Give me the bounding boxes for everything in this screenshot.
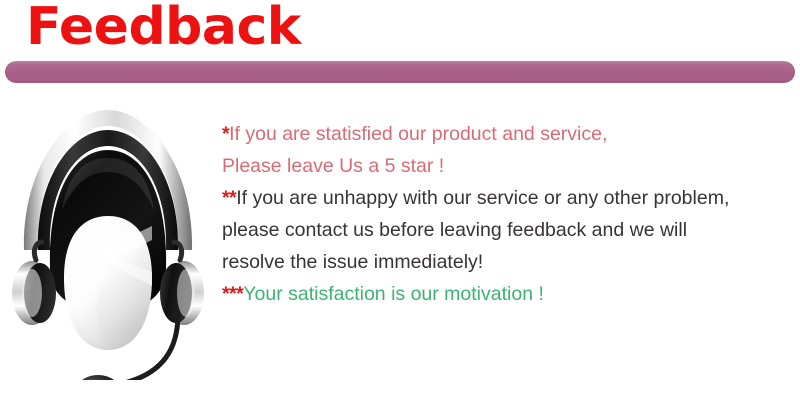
left-ear-cup — [12, 242, 56, 325]
message-line: ***Your satisfaction is our motivation ! — [222, 278, 788, 310]
line-text: Please leave Us a 5 star ! — [222, 155, 444, 177]
message-line: Please leave Us a 5 star ! — [222, 150, 788, 182]
line-text: Your satisfaction is our motivation ! — [243, 283, 544, 305]
customer-service-headset-icon — [2, 100, 214, 380]
page-title: Feedback — [26, 0, 301, 56]
microphone-mouthpiece — [78, 375, 118, 380]
line-marker: *** — [222, 283, 243, 305]
feedback-message-block: *If you are statisfied our product and s… — [222, 118, 788, 310]
message-line: please contact us before leaving feedbac… — [222, 214, 788, 246]
feedback-banner: Feedback — [0, 0, 800, 400]
divider-bar — [5, 61, 795, 83]
line-text: resolve the issue immediately! — [222, 251, 483, 273]
message-line: **If you are unhappy with our service or… — [222, 182, 788, 214]
line-text: If you are unhappy with our service or a… — [236, 187, 729, 209]
line-text: please contact us before leaving feedbac… — [222, 219, 687, 241]
message-line: resolve the issue immediately! — [222, 246, 788, 278]
message-line: *If you are statisfied our product and s… — [222, 118, 788, 150]
line-text: If you are statisfied our product and se… — [229, 123, 607, 145]
right-ear-cup — [160, 242, 204, 325]
line-marker: ** — [222, 187, 236, 209]
